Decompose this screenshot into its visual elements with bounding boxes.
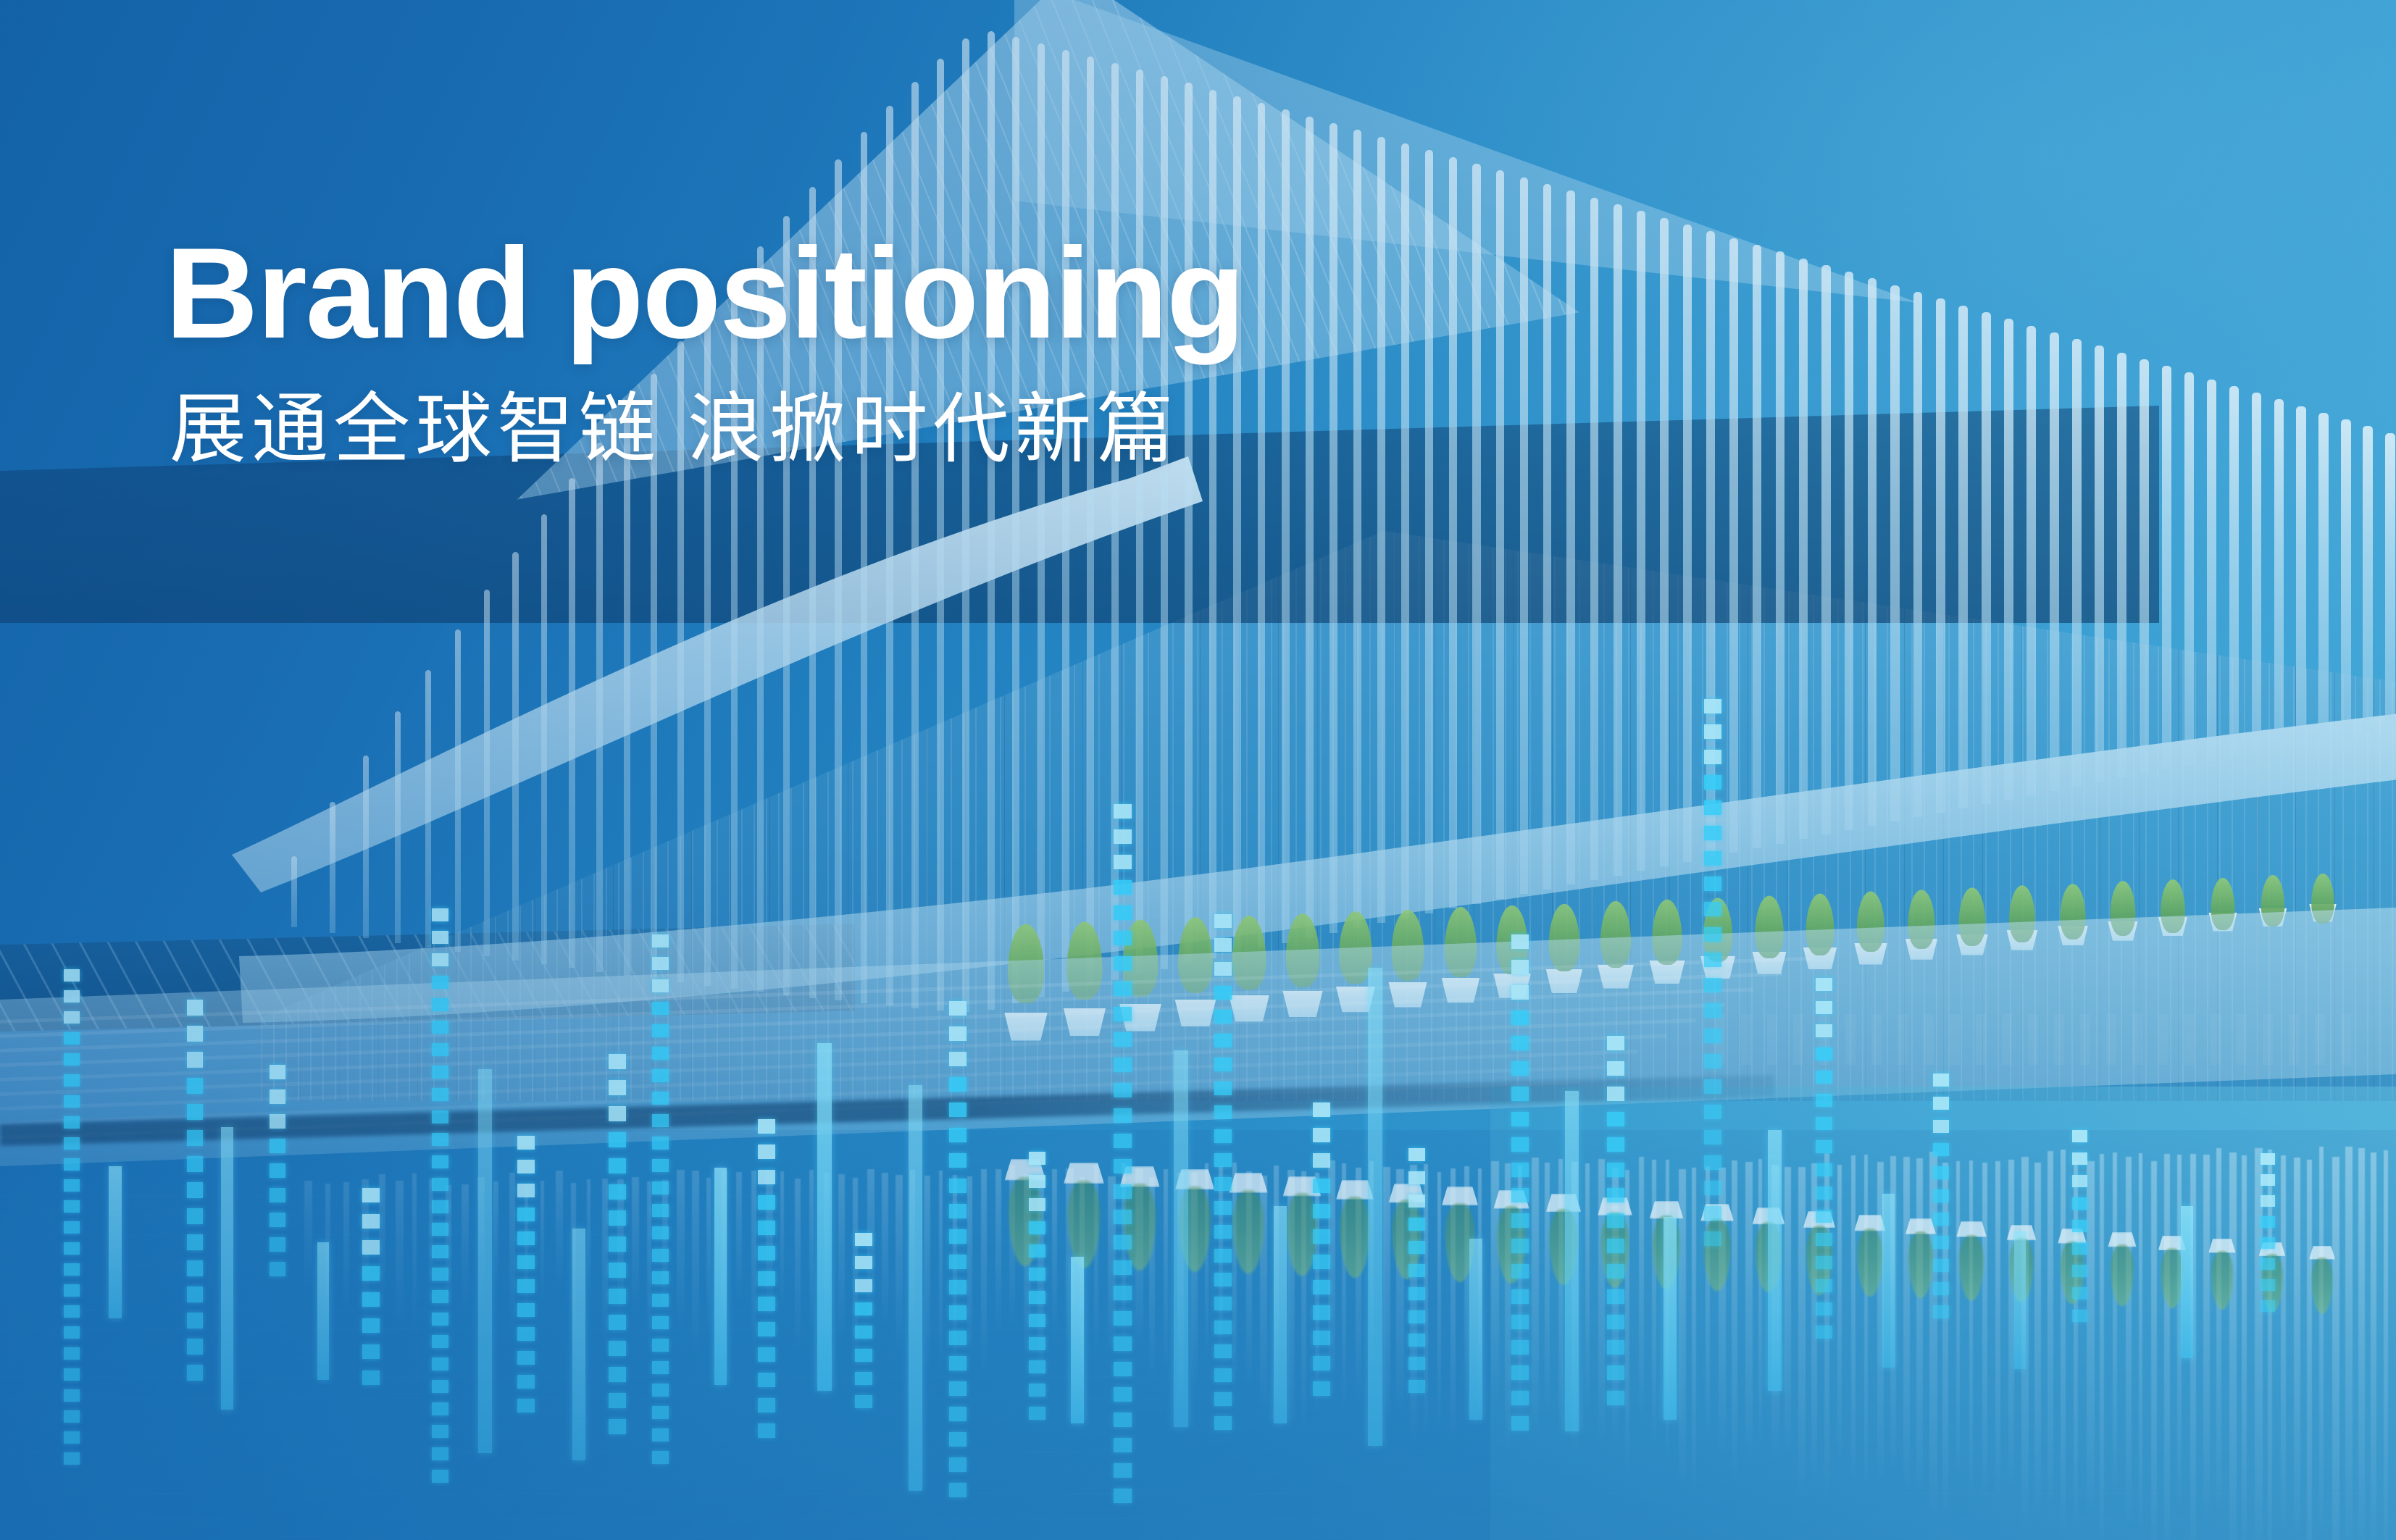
data-bar-segment xyxy=(949,1001,967,1016)
data-bar-segment xyxy=(432,1200,448,1213)
data-bar-segment xyxy=(1704,902,1721,916)
data-bar xyxy=(609,1054,626,1460)
data-bar-segment xyxy=(652,1339,669,1352)
data-bar-segment xyxy=(652,1361,669,1374)
data-bar xyxy=(1408,1148,1425,1423)
data-bar-solid xyxy=(317,1242,329,1380)
data-bar-segment xyxy=(187,1182,203,1198)
data-bar-segment xyxy=(949,1102,967,1117)
data-bar-segment xyxy=(652,1294,669,1307)
data-bar-segment xyxy=(609,1106,626,1121)
data-bar-segment xyxy=(270,1065,285,1079)
data-bar-segment xyxy=(2261,1174,2275,1186)
data-bar-segment xyxy=(432,931,448,944)
data-bar-solid xyxy=(1071,1257,1084,1423)
data-bar-segment xyxy=(1816,978,1832,991)
data-bar-segment xyxy=(64,1116,80,1129)
data-bar-segment xyxy=(1313,1356,1330,1370)
data-bar xyxy=(714,1168,727,1385)
data-bar-segment xyxy=(517,1184,535,1197)
data-bar-segment xyxy=(1511,1289,1529,1304)
data-bar-segment xyxy=(1933,1074,1949,1087)
data-bar-segment xyxy=(64,1074,80,1087)
data-bar xyxy=(1313,1102,1330,1428)
data-bar-segment xyxy=(270,1262,285,1276)
data-bar-segment xyxy=(1408,1218,1425,1231)
data-bar-segment xyxy=(609,1393,626,1408)
data-bar-segment xyxy=(1816,1279,1832,1292)
data-bar-segment xyxy=(1816,1094,1832,1107)
data-bar-solid xyxy=(909,1085,922,1491)
data-bar-segment xyxy=(1029,1291,1045,1304)
data-bar-segment xyxy=(949,1432,967,1447)
data-bar-segment xyxy=(1114,880,1132,895)
data-bar-segment xyxy=(64,1179,80,1192)
data-bar-segment xyxy=(1114,855,1132,869)
data-bar-segment xyxy=(609,1080,626,1095)
data-bar-segment xyxy=(64,1368,80,1381)
data-bar-segment xyxy=(652,1316,669,1329)
data-bar-segment xyxy=(362,1292,380,1307)
data-bar-segment xyxy=(652,1406,669,1419)
data-bar-segment xyxy=(1607,1340,1624,1355)
data-bar-segment xyxy=(64,1305,80,1318)
data-bar-segment xyxy=(1214,1153,1232,1167)
data-bar-segment xyxy=(1704,699,1721,713)
data-bar-segment xyxy=(1313,1128,1330,1142)
data-bar-segment xyxy=(949,1052,967,1066)
data-bar-segment xyxy=(1704,750,1721,764)
data-bar-segment xyxy=(1214,1368,1232,1382)
data-bar-segment xyxy=(949,1305,967,1320)
data-bar-segment xyxy=(432,1088,448,1101)
data-bar xyxy=(1664,1217,1677,1420)
data-bar-segment xyxy=(855,1233,872,1246)
data-bar-segment xyxy=(517,1255,535,1269)
data-bar-solid xyxy=(572,1229,585,1460)
data-bar-segment xyxy=(1114,1058,1132,1072)
data-bar-segment xyxy=(517,1231,535,1245)
data-bar-segment xyxy=(609,1367,626,1382)
data-bar-segment xyxy=(1816,1001,1832,1014)
data-bar-segment xyxy=(1313,1280,1330,1294)
data-bar-segment xyxy=(2261,1237,2275,1249)
data-bar-segment xyxy=(187,1026,203,1042)
data-bar-segment xyxy=(1214,1058,1232,1071)
data-bar-segment xyxy=(1408,1148,1425,1161)
data-bar-segment xyxy=(758,1322,775,1336)
data-bar-segment xyxy=(432,1335,448,1348)
data-bar xyxy=(2072,1130,2087,1347)
data-bar-segment xyxy=(432,1357,448,1370)
data-bar-segment xyxy=(432,1447,448,1460)
data-bar-segment xyxy=(1933,1143,1949,1156)
data-bar xyxy=(1368,968,1382,1446)
data-bar-segment xyxy=(64,1452,80,1465)
data-bar-segment xyxy=(1408,1287,1425,1300)
title-english: Brand positioning xyxy=(165,229,1244,358)
data-bar-segment xyxy=(1408,1264,1425,1277)
data-bar-segment xyxy=(652,1114,669,1127)
data-bar-segment xyxy=(1029,1244,1045,1257)
data-bar-segment xyxy=(758,1271,775,1286)
data-bar-segment xyxy=(1607,1365,1624,1380)
title-chinese: 展通全球智链 浪掀时代新篇 xyxy=(170,388,1244,471)
data-bar-segment xyxy=(64,1221,80,1234)
data-bar-segment xyxy=(432,1133,448,1146)
data-bar-segment xyxy=(1214,1273,1232,1286)
data-bar-segment xyxy=(1214,986,1232,1000)
data-bar-segment xyxy=(1511,1112,1529,1126)
data-bar-segment xyxy=(1704,1181,1721,1195)
data-bar-solid xyxy=(2181,1206,2193,1358)
data-bar-segment xyxy=(517,1303,535,1317)
data-bar-segment xyxy=(949,1229,967,1244)
data-bar-segment xyxy=(1511,1087,1529,1101)
data-bar-segment xyxy=(1214,1297,1232,1310)
data-bar-segment xyxy=(1214,1105,1232,1119)
data-bar-segment xyxy=(270,1163,285,1178)
data-bar-segment xyxy=(432,1380,448,1393)
title-block: Brand positioning 展通全球智链 浪掀时代新篇 xyxy=(165,229,1244,471)
data-bar-segment xyxy=(432,1110,448,1123)
data-bar-segment xyxy=(758,1170,775,1184)
data-bar-segment xyxy=(1511,1365,1529,1380)
data-bar-segment xyxy=(855,1279,872,1292)
data-bar-segment xyxy=(1029,1221,1045,1234)
data-bar-segment xyxy=(758,1144,775,1159)
data-bar-segment xyxy=(432,1425,448,1438)
data-bar-solid xyxy=(1368,968,1382,1446)
data-bar-segment xyxy=(270,1139,285,1153)
data-bar-segment xyxy=(1607,1264,1624,1279)
data-bar-segment xyxy=(1704,1206,1721,1221)
data-bar-segment xyxy=(64,1263,80,1276)
data-bar-segment xyxy=(652,1204,669,1217)
data-bar-segment xyxy=(1029,1407,1045,1420)
data-bar xyxy=(758,1119,775,1460)
data-bar-segment xyxy=(1214,1010,1232,1024)
data-bar-segment xyxy=(432,1155,448,1168)
data-bar-segment xyxy=(1114,1032,1132,1047)
data-bar-segment xyxy=(1704,800,1721,815)
data-bar xyxy=(1933,1074,1949,1349)
data-bar-segment xyxy=(2072,1220,2087,1232)
data-bar-segment xyxy=(2261,1279,2275,1291)
data-bar-segment xyxy=(1704,876,1721,891)
data-bar xyxy=(1882,1194,1895,1368)
data-bar xyxy=(1607,1036,1624,1427)
data-bar-segment xyxy=(432,998,448,1011)
data-bar xyxy=(2181,1206,2193,1358)
data-bar-segment xyxy=(64,990,80,1003)
data-bar-segment xyxy=(652,1002,669,1015)
data-bar-segment xyxy=(1511,1163,1529,1177)
data-bar-segment xyxy=(64,1011,80,1024)
data-bar-segment xyxy=(1114,1210,1132,1224)
data-bar-segment xyxy=(1114,1438,1132,1452)
data-bar-segment xyxy=(517,1279,535,1293)
data-bar-segment xyxy=(187,1156,203,1172)
data-bar-segment xyxy=(362,1240,380,1255)
data-bar-segment xyxy=(517,1399,535,1413)
data-bar-segment xyxy=(432,1313,448,1326)
data-bar-segment xyxy=(1029,1152,1045,1165)
data-bar-segment xyxy=(855,1395,872,1408)
data-bar-segment xyxy=(1704,978,1721,992)
data-bar-segment xyxy=(652,1428,669,1441)
data-bar-segment xyxy=(758,1221,775,1235)
data-bar-solid xyxy=(714,1168,727,1385)
data-bar-segment xyxy=(64,1326,80,1339)
data-bar xyxy=(652,934,669,1485)
data-bar-segment xyxy=(1704,1155,1721,1170)
data-bar-solid xyxy=(478,1069,492,1453)
data-bar-segment xyxy=(1214,1177,1232,1191)
data-bar-segment xyxy=(652,1069,669,1082)
data-bar-segment xyxy=(949,1179,967,1193)
data-bar-segment xyxy=(2072,1242,2087,1255)
data-bar xyxy=(1768,1130,1782,1391)
data-bar-segment xyxy=(1408,1241,1425,1254)
data-bar-segment xyxy=(758,1119,775,1134)
data-bar-segment xyxy=(1607,1188,1624,1202)
data-bar-segment xyxy=(1704,1105,1721,1119)
data-bar-segment xyxy=(652,1092,669,1105)
data-bar-segment xyxy=(1816,1140,1832,1153)
data-bar-segment xyxy=(1114,1286,1132,1300)
data-bar-segment xyxy=(1704,1130,1721,1144)
data-bar-segment xyxy=(609,1054,626,1069)
data-bar-segment xyxy=(2072,1175,2087,1187)
data-bar xyxy=(2014,1231,2026,1369)
data-bar-segment xyxy=(949,1356,967,1370)
data-bar-segment xyxy=(949,1026,967,1041)
data-bar-segment xyxy=(1704,826,1721,840)
data-bar-segment xyxy=(855,1326,872,1339)
data-bar-segment xyxy=(64,1347,80,1360)
data-bar-segment xyxy=(1704,724,1721,739)
data-bar-segment xyxy=(187,1365,203,1381)
data-bar-segment xyxy=(187,1052,203,1068)
data-bar-segment xyxy=(1511,1010,1529,1025)
data-bar-segment xyxy=(1704,927,1721,942)
data-bar-segment xyxy=(758,1423,775,1438)
data-bar-segment xyxy=(1816,1024,1832,1037)
data-bar-segment xyxy=(2072,1310,2087,1322)
data-bar xyxy=(1071,1257,1084,1423)
data-bar xyxy=(270,1065,285,1304)
data-bar-segment xyxy=(1607,1087,1624,1101)
data-bar-segment xyxy=(1214,1344,1232,1358)
data-bar-segment xyxy=(432,1178,448,1191)
data-bar-segment xyxy=(1704,1003,1721,1018)
data-bar-segment xyxy=(1607,1239,1624,1253)
data-bar-solid xyxy=(109,1166,122,1318)
data-bar-solid xyxy=(1882,1194,1895,1368)
data-bar-segment xyxy=(609,1210,626,1226)
data-bar-segment xyxy=(1214,1392,1232,1406)
data-bar-segment xyxy=(187,1286,203,1302)
data-bar-segment xyxy=(1114,804,1132,819)
data-bar-segment xyxy=(432,953,448,966)
data-bar-segment xyxy=(1816,1163,1832,1176)
data-bar xyxy=(2261,1153,2275,1342)
data-bar-segment xyxy=(1511,1036,1529,1050)
data-bar-segment xyxy=(2072,1287,2087,1300)
data-bar xyxy=(317,1242,329,1380)
data-bar-segment xyxy=(1704,851,1721,866)
data-bar-segment xyxy=(2261,1195,2275,1207)
data-bar-segment xyxy=(652,1384,669,1397)
data-bar-segment xyxy=(2072,1265,2087,1277)
data-bar-segment xyxy=(1214,1081,1232,1095)
data-bar-segment xyxy=(2072,1197,2087,1210)
data-bar-segment xyxy=(64,969,80,982)
data-bar-segment xyxy=(64,1200,80,1213)
data-bar-segment xyxy=(949,1255,967,1269)
data-bar-segment xyxy=(1704,1079,1721,1094)
banner-canvas: Brand positioning 展通全球智链 浪掀时代新篇 xyxy=(0,0,2396,1540)
data-bar-segment xyxy=(1933,1166,1949,1179)
data-bar xyxy=(572,1229,585,1460)
data-bar-segment xyxy=(1408,1310,1425,1323)
data-bar-segment xyxy=(2261,1300,2275,1312)
data-bar-segment xyxy=(1933,1305,1949,1318)
data-bar-segment xyxy=(1511,934,1529,949)
data-bar xyxy=(1816,978,1832,1369)
data-bar-segment xyxy=(517,1375,535,1389)
data-bar-segment xyxy=(2261,1153,2275,1165)
data-bar-segment xyxy=(1511,1315,1529,1329)
data-bar-segment xyxy=(1313,1305,1330,1320)
data-bar-segment xyxy=(609,1419,626,1434)
data-bar-segment xyxy=(949,1457,967,1472)
data-bar-segment xyxy=(1816,1256,1832,1269)
data-bar-segment xyxy=(1408,1194,1425,1208)
data-bar-segment xyxy=(609,1236,626,1252)
data-bar-solid xyxy=(221,1127,233,1410)
data-bar-segment xyxy=(652,1226,669,1239)
data-bar-segment xyxy=(1607,1289,1624,1304)
data-bar-segment xyxy=(1214,1321,1232,1334)
data-bar-segment xyxy=(270,1114,285,1129)
data-bar-segment xyxy=(855,1349,872,1362)
data-bar-segment xyxy=(1114,1159,1132,1173)
data-bar xyxy=(517,1136,535,1440)
data-bar-segment xyxy=(1408,1334,1425,1347)
data-bar-segment xyxy=(1816,1326,1832,1339)
data-bar xyxy=(64,969,80,1476)
data-bar-segment xyxy=(1607,1213,1624,1228)
data-bar-segment xyxy=(1029,1384,1045,1397)
data-bar-segment xyxy=(1511,1239,1529,1253)
data-bar-segment xyxy=(758,1398,775,1413)
data-bar-segment xyxy=(270,1213,285,1227)
data-bar-segment xyxy=(1114,982,1132,996)
data-bar-segment xyxy=(187,1078,203,1094)
data-bar-segment xyxy=(1114,1387,1132,1402)
data-bar-segment xyxy=(949,1153,967,1168)
data-bar-segment xyxy=(517,1136,535,1150)
data-bar-segment xyxy=(1607,1137,1624,1152)
data-bar-segment xyxy=(1029,1175,1045,1188)
data-bar-segment xyxy=(1704,1029,1721,1043)
data-bar-segment xyxy=(1607,1163,1624,1177)
data-bar-segment xyxy=(1933,1189,1949,1202)
data-bar-segment xyxy=(1114,1362,1132,1376)
data-bar xyxy=(432,908,448,1510)
data-bar-solid xyxy=(1565,1091,1579,1431)
data-bar-segment xyxy=(1704,1054,1721,1068)
data-bar-segment xyxy=(270,1188,285,1202)
data-bar-segment xyxy=(949,1407,967,1421)
data-bar-segment xyxy=(1214,1129,1232,1143)
data-bar-segment xyxy=(758,1246,775,1260)
data-bar-segment xyxy=(1408,1357,1425,1370)
data-bar-segment xyxy=(949,1483,967,1497)
data-bar-segment xyxy=(64,1158,80,1171)
data-bar-segment xyxy=(1933,1236,1949,1249)
data-bar-segment xyxy=(362,1344,380,1359)
data-bar-segment xyxy=(609,1315,626,1330)
data-bar-segment xyxy=(949,1204,967,1218)
data-bar-segment xyxy=(1114,1083,1132,1097)
data-bar-segment xyxy=(1511,960,1529,974)
data-bar-segment xyxy=(1607,1036,1624,1050)
data-bar-segment xyxy=(1214,1034,1232,1047)
data-bar-segment xyxy=(1511,1416,1529,1431)
data-bar-segment xyxy=(1313,1229,1330,1244)
data-bar-segment xyxy=(1313,1381,1330,1396)
data-bar-segment xyxy=(1408,1380,1425,1393)
data-bar-segment xyxy=(432,1402,448,1415)
data-bar-segment xyxy=(64,1095,80,1108)
data-bar-segment xyxy=(949,1077,967,1092)
data-bar-segment xyxy=(1313,1153,1330,1168)
data-bar-segment xyxy=(432,976,448,989)
data-bar-segment xyxy=(1313,1102,1330,1117)
data-bar-segment xyxy=(362,1318,380,1333)
data-bar-segment xyxy=(1214,914,1232,928)
data-bar-segment xyxy=(652,1249,669,1262)
data-bar-solid xyxy=(2014,1231,2026,1369)
data-bar-segment xyxy=(64,1137,80,1150)
data-bar-segment xyxy=(949,1331,967,1345)
data-bar-segment xyxy=(1114,931,1132,945)
data-bar-segment xyxy=(1933,1120,1949,1133)
data-bar xyxy=(1565,1091,1579,1431)
data-bar-segment xyxy=(652,1451,669,1464)
data-bar-segment xyxy=(652,934,669,947)
data-bar-segment xyxy=(1114,956,1132,971)
data-bar-segment xyxy=(652,1024,669,1037)
data-bar-segment xyxy=(187,1234,203,1250)
data-bar-segment xyxy=(652,1181,669,1194)
data-bar-segment xyxy=(1114,1235,1132,1250)
data-bar-segment xyxy=(362,1188,380,1202)
data-bar-segment xyxy=(1816,1233,1832,1246)
data-bar-segment xyxy=(1704,1231,1721,1246)
data-bar-segment xyxy=(758,1195,775,1210)
data-bar-segment xyxy=(2072,1152,2087,1165)
data-bar-segment xyxy=(855,1372,872,1385)
data-bar-segment xyxy=(652,1271,669,1284)
data-bar-segment xyxy=(64,1284,80,1297)
data-bar xyxy=(1174,1050,1188,1427)
data-bar-segment xyxy=(432,1290,448,1303)
data-bar-segment xyxy=(187,1313,203,1328)
